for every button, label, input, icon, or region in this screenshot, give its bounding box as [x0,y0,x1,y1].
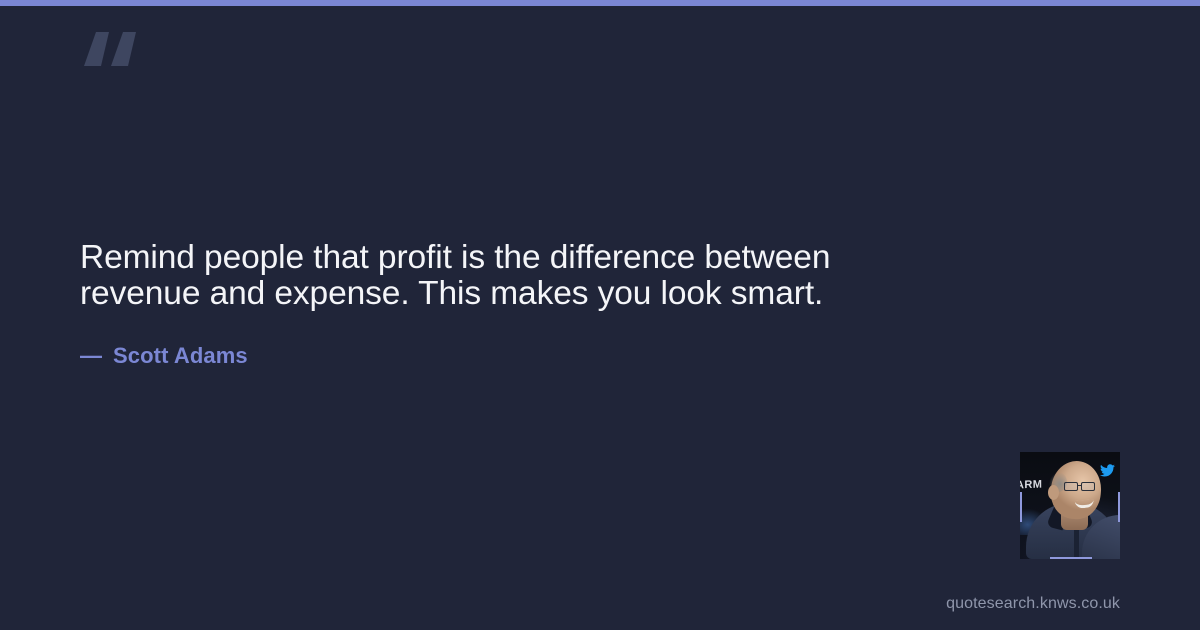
author-name: Scott Adams [113,345,248,367]
quote-block: Remind people that profit is the differe… [80,240,1080,312]
thumbnail-accent-left [1020,492,1022,522]
thumbnail-accent-bottom [1050,557,1092,559]
author-photo: ARM [1020,452,1120,559]
subject-ear [1048,485,1059,500]
quote-card: Remind people that profit is the differe… [0,6,1200,630]
thumbnail-accent-right [1118,492,1120,522]
backdrop-brand-text: ARM [1020,479,1042,492]
author-attribution: — Scott Adams [80,345,248,367]
quote-text: Remind people that profit is the differe… [80,240,940,312]
source-url: quotesearch.knws.co.uk [946,594,1120,614]
twitter-bird-icon [1100,464,1115,477]
opening-quote-mark-icon [80,28,138,84]
author-dash: — [80,345,102,367]
shirt-placket [1074,527,1079,559]
author-thumbnail: ARM [1020,452,1120,559]
subject-glasses [1064,482,1102,491]
